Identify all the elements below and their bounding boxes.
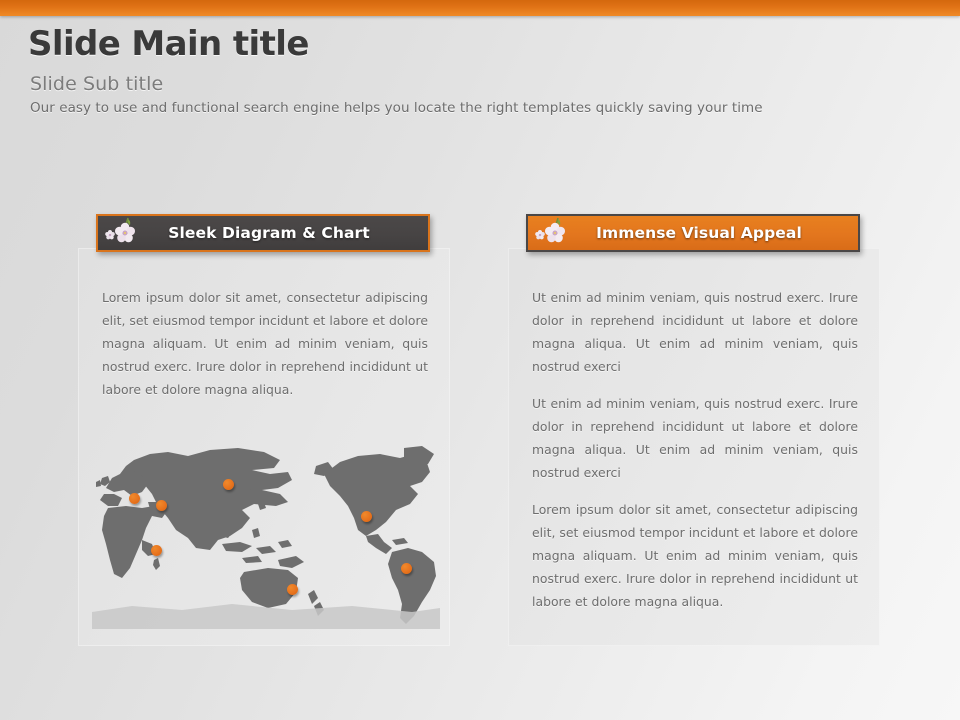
map-marker-oceania — [287, 584, 298, 595]
map-marker-western-europe — [129, 493, 140, 504]
title-block: Slide Main title Slide Sub title Our eas… — [28, 24, 928, 117]
map-marker-central-africa — [151, 545, 162, 556]
slide-canvas: Slide Main title Slide Sub title Our eas… — [0, 0, 960, 720]
card-body-right: Ut enim ad minim veniam, quis nostrud ex… — [508, 248, 880, 646]
page-tagline: Our easy to use and functional search en… — [30, 99, 928, 117]
card-body-left: Lorem ipsum dolor sit amet, consectetur … — [78, 248, 450, 646]
paragraph: Ut enim ad minim veniam, quis nostrud ex… — [532, 392, 858, 484]
card-header-left-title: Sleek Diagram & Chart — [146, 224, 428, 242]
card-immense-visual-appeal: Ut enim ad minim veniam, quis nostrud ex… — [508, 248, 880, 646]
card-header-right[interactable]: Immense Visual Appeal — [526, 214, 860, 252]
world-map-svg — [92, 444, 440, 629]
card-header-left[interactable]: Sleek Diagram & Chart — [96, 214, 430, 252]
paragraph: Ut enim ad minim veniam, quis nostrud ex… — [532, 286, 858, 378]
page-subtitle: Slide Sub title — [30, 72, 928, 96]
cherry-blossom-icon — [532, 216, 576, 250]
world-map — [92, 444, 440, 629]
cherry-blossom-icon — [102, 216, 146, 250]
card-sleek-diagram-chart: Lorem ipsum dolor sit amet, consectetur … — [78, 248, 450, 646]
paragraph: Lorem ipsum dolor sit amet, consectetur … — [532, 498, 858, 613]
top-accent-bar — [0, 0, 960, 16]
card-right-text: Ut enim ad minim veniam, quis nostrud ex… — [532, 286, 858, 613]
card-left-text: Lorem ipsum dolor sit amet, consectetur … — [102, 286, 428, 401]
page-title: Slide Main title — [28, 24, 928, 64]
map-marker-north-america — [361, 511, 372, 522]
paragraph: Lorem ipsum dolor sit amet, consectetur … — [102, 286, 428, 401]
card-header-right-title: Immense Visual Appeal — [576, 224, 858, 242]
